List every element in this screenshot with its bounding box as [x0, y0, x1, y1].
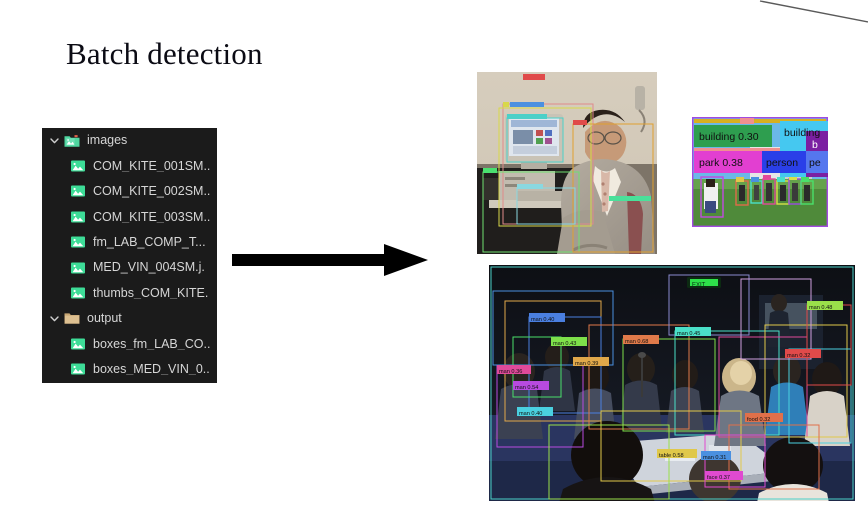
page-title: Batch detection	[66, 36, 263, 72]
park-label-building: building	[784, 127, 820, 139]
tree-item-label: thumbs_COM_KITE.	[93, 287, 208, 300]
tree-item-file[interactable]: boxes_MED_VIN_0..	[42, 357, 217, 382]
process-flow-arrow	[232, 240, 432, 280]
tree-folder-output[interactable]: output	[42, 306, 217, 331]
tree-item-file[interactable]: boxes_fm_LAB_CO..	[42, 331, 217, 356]
image-file-icon	[70, 209, 86, 225]
chevron-down-icon[interactable]	[48, 134, 61, 147]
tree-item-file[interactable]: fm_LAB_COMP_T...	[42, 230, 217, 255]
file-explorer-panel[interactable]: images COM_KITE_001SM.. COM_KITE_002SM..…	[42, 128, 217, 383]
detection-result-park[interactable]: building 0.30 park 0.38 person building …	[692, 117, 828, 227]
image-file-icon	[70, 260, 86, 276]
tree-item-label: boxes_MED_VIN_0..	[93, 363, 210, 376]
tree-item-label: COM_KITE_003SM..	[93, 211, 210, 224]
meeting-label-11: face 0.37	[707, 475, 730, 481]
detection-result-office[interactable]	[477, 72, 657, 254]
tree-item-label: COM_KITE_001SM..	[93, 160, 210, 173]
image-file-icon	[70, 234, 86, 250]
image-file-icon	[70, 336, 86, 352]
tree-folder-label: output	[87, 312, 122, 325]
image-folder-icon	[64, 133, 80, 149]
tree-item-file[interactable]: COM_KITE_002SM..	[42, 179, 217, 204]
meeting-label-1: man 0.43	[553, 341, 576, 347]
image-file-icon	[70, 183, 86, 199]
tree-item-file[interactable]: MED_VIN_004SM.j.	[42, 255, 217, 280]
meeting-label-13: man 0.31	[703, 455, 726, 461]
exit-sign-text: EXIT	[692, 283, 706, 289]
meeting-label-0: man 0.40	[531, 317, 554, 323]
tree-item-file[interactable]: COM_KITE_001SM..	[42, 153, 217, 178]
tree-item-label: boxes_fm_LAB_CO..	[93, 338, 210, 351]
meeting-label-3: man 0.54	[515, 385, 538, 391]
chevron-down-icon[interactable]	[48, 312, 61, 325]
tree-folder-label: images	[87, 134, 127, 147]
tree-item-label: MED_VIN_004SM.j.	[93, 261, 205, 274]
meeting-label-2: man 0.68	[625, 339, 648, 345]
image-file-icon	[70, 158, 86, 174]
image-file-icon	[70, 285, 86, 301]
meeting-label-9: man 0.48	[809, 305, 832, 311]
corner-decoration-line	[738, 0, 868, 34]
meeting-label-7: man 0.40	[519, 411, 542, 417]
folder-icon	[64, 310, 80, 326]
tree-item-label: fm_LAB_COMP_T...	[93, 236, 206, 249]
park-label-pe: pe	[809, 157, 821, 169]
meeting-label-8: man 0.32	[787, 353, 810, 359]
detection-result-meeting[interactable]: EXIT	[489, 265, 855, 501]
meeting-label-6: man 0.36	[499, 369, 522, 375]
tree-folder-images[interactable]: images	[42, 128, 217, 153]
park-label-building-030: building 0.30	[699, 131, 759, 143]
meeting-label-4: man 0.39	[575, 361, 598, 367]
meeting-label-5: man 0.45	[677, 331, 700, 337]
meeting-label-12: food 0.32	[747, 417, 770, 423]
tree-item-file[interactable]: boxes_thumbs_CO..	[42, 382, 217, 383]
park-label-b: b	[812, 139, 818, 151]
park-label-person: person	[766, 157, 798, 169]
tree-item-label: COM_KITE_002SM..	[93, 185, 210, 198]
tree-item-file[interactable]: COM_KITE_003SM..	[42, 204, 217, 229]
image-file-icon	[70, 361, 86, 377]
park-label-park-038: park 0.38	[699, 157, 743, 169]
meeting-label-10: table 0.58	[659, 453, 684, 459]
tree-item-file[interactable]: thumbs_COM_KITE.	[42, 280, 217, 305]
